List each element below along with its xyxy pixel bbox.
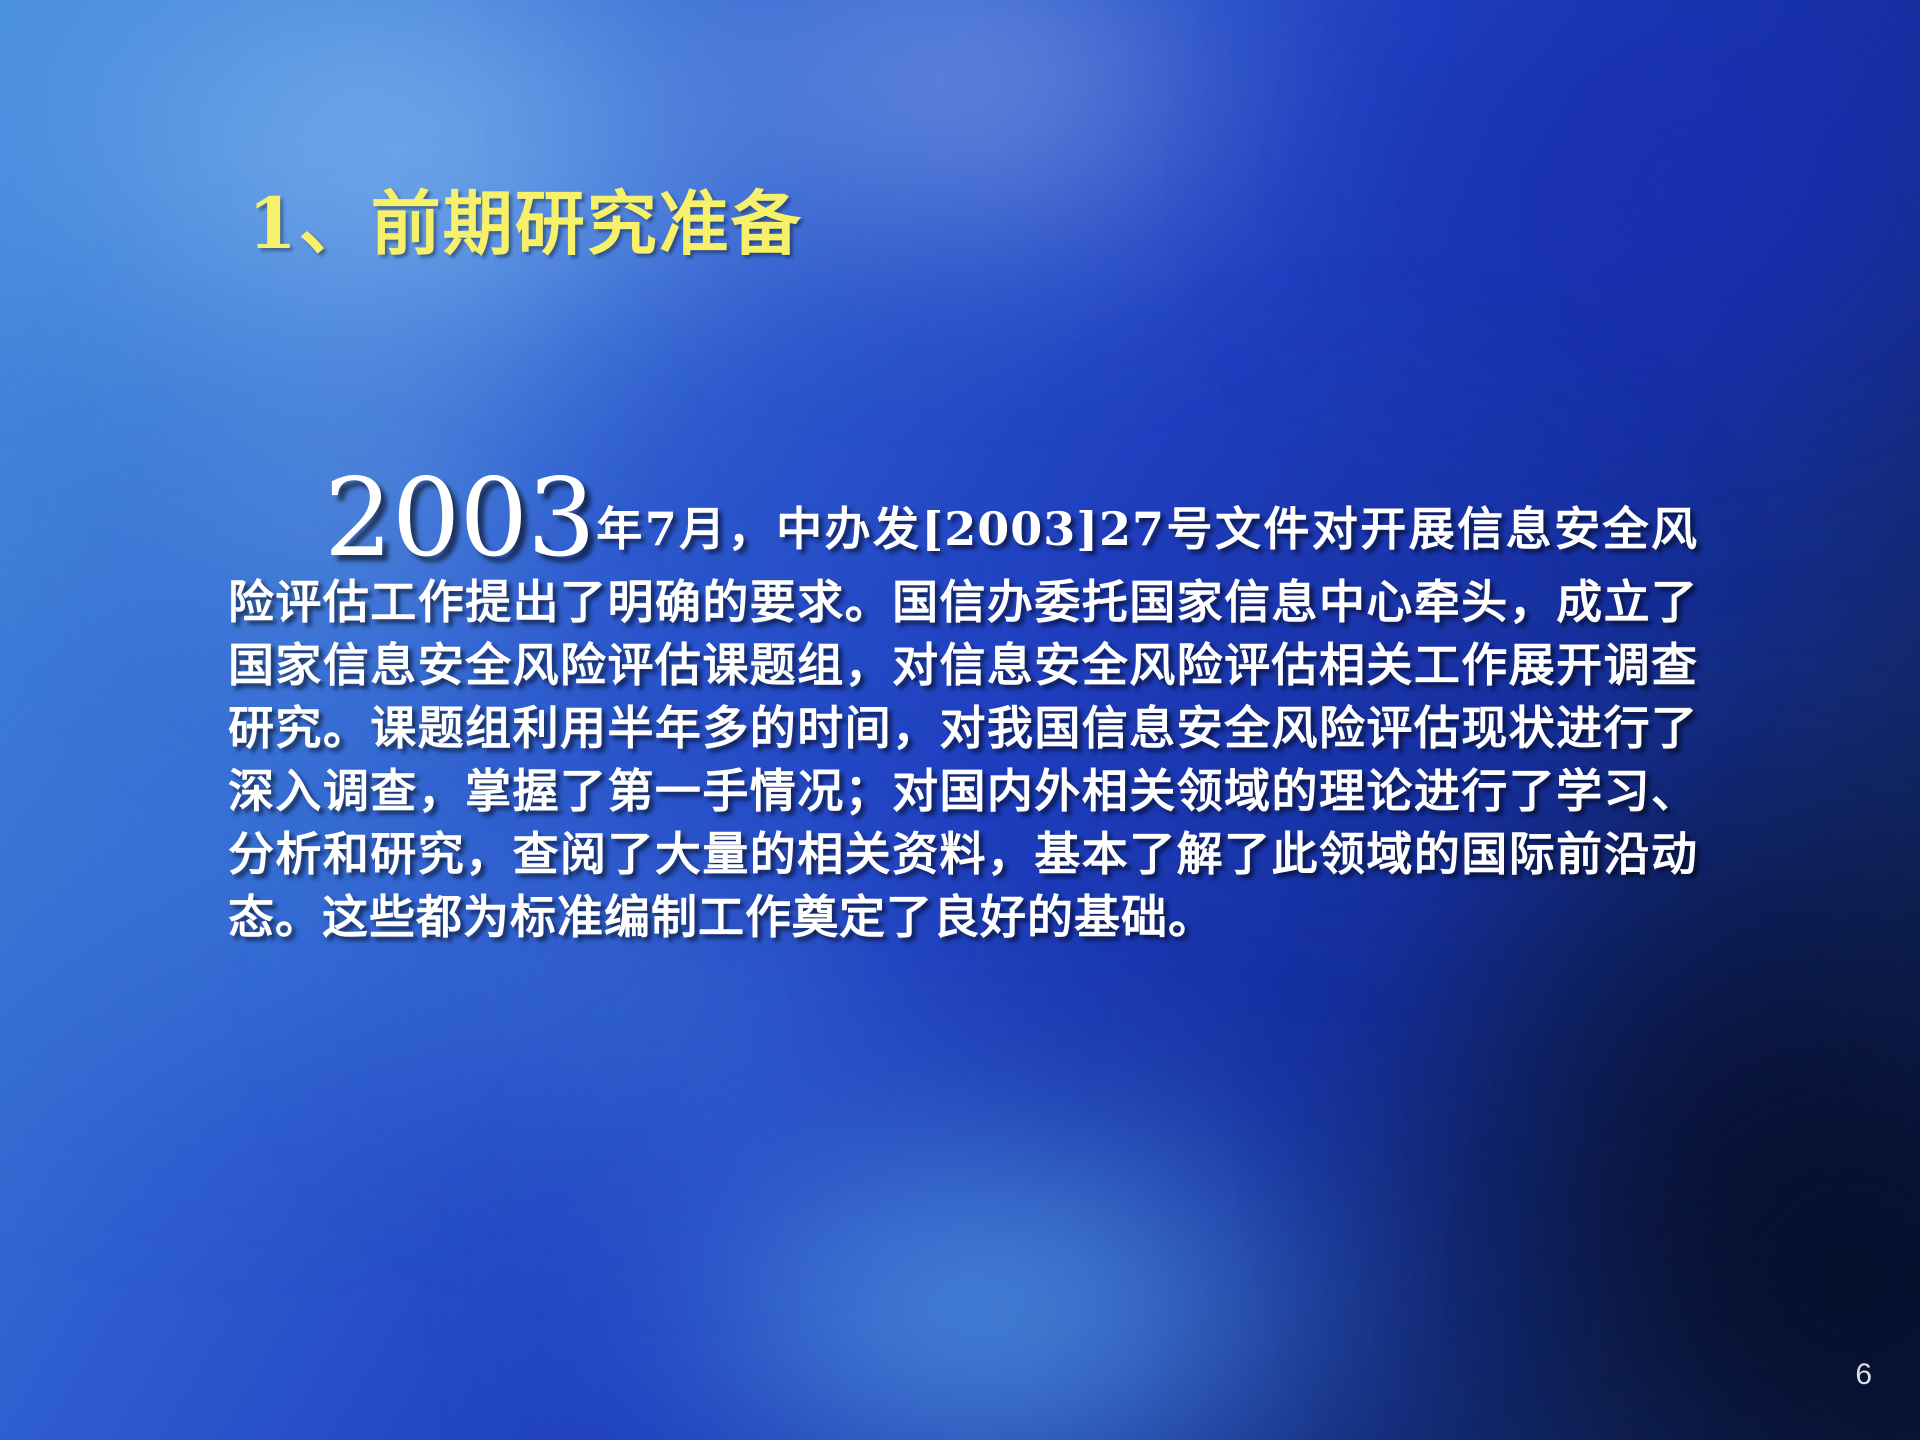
slide-content: 1、前期研究准备 2003年7月，中办发[2003]27号文件对开展信息安全风险… xyxy=(0,0,1920,1440)
page-number: 6 xyxy=(1855,1358,1872,1392)
slide-title: 1、前期研究准备 xyxy=(248,186,803,262)
presentation-slide: 1、前期研究准备 2003年7月，中办发[2003]27号文件对开展信息安全风险… xyxy=(0,0,1920,1440)
year-emphasis: 2003 xyxy=(324,456,595,581)
slide-body: 2003年7月，中办发[2003]27号文件对开展信息安全风险评估工作提出了明确… xyxy=(228,468,1698,949)
body-paragraph: 2003年7月，中办发[2003]27号文件对开展信息安全风险评估工作提出了明确… xyxy=(228,468,1698,949)
